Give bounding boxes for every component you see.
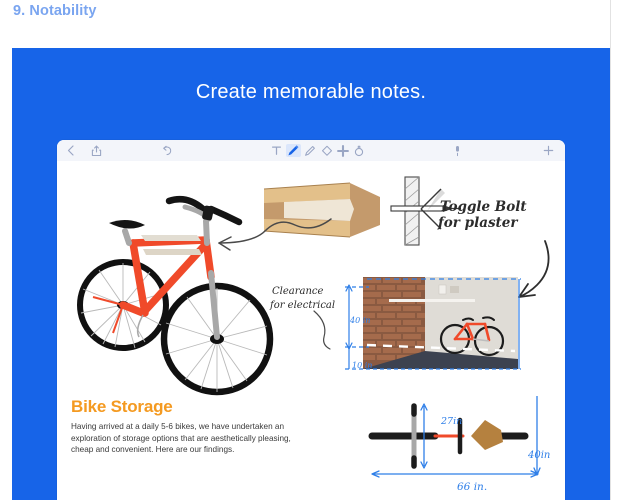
note-canvas-body[interactable]: Toggle Bolt for plaster Clearance for el…	[57, 161, 565, 500]
toolbar-left-group	[64, 144, 103, 157]
toolbar-right-group	[542, 144, 565, 157]
note-app-window: Toggle Bolt for plaster Clearance for el…	[57, 140, 565, 500]
page-divider	[610, 0, 611, 500]
bike-storage-body: Having arrived at a daily 5-6 bikes, we …	[71, 421, 299, 456]
link-icon[interactable]	[564, 144, 565, 157]
lasso-select-icon[interactable]	[336, 144, 349, 157]
dimension-bike-length: 66 in.	[457, 481, 487, 493]
app-toolbar	[57, 140, 565, 162]
annotation-clearance-line1: Clearance	[272, 286, 323, 297]
page-title: 9. Notability	[13, 3, 96, 19]
microphone-icon[interactable]	[451, 144, 464, 157]
back-chevron-icon[interactable]	[64, 144, 77, 157]
connector-squiggle-arrow	[207, 213, 337, 253]
bike-storage-title: Bike Storage	[71, 397, 311, 417]
toolbar-undo-group	[161, 144, 174, 157]
eraser-tool-icon[interactable]	[320, 144, 333, 157]
dimension-wall-offset: 10 in	[352, 361, 372, 370]
media-tool-icon[interactable]	[352, 144, 365, 157]
text-tool-icon[interactable]	[270, 144, 283, 157]
dimension-bike-height: 27in	[441, 416, 462, 427]
highlighter-tool-icon[interactable]	[304, 144, 317, 157]
page-root: 9. Notability Create memorable notes.	[0, 0, 625, 500]
hero-panel: Create memorable notes.	[12, 48, 610, 500]
photo-dimension-lines	[343, 273, 528, 375]
add-icon[interactable]	[542, 144, 555, 157]
bike-storage-text-block: Bike Storage Having arrived at a daily 5…	[71, 397, 311, 456]
toolbar-tools-group	[270, 144, 365, 157]
hero-title: Create memorable notes.	[12, 81, 610, 104]
annotation-toggle-bolt-line2: for plaster	[438, 215, 517, 231]
share-icon[interactable]	[90, 144, 103, 157]
toolbar-mic-group	[451, 144, 464, 157]
annotation-toggle-bolt-line1: Toggle Bolt	[440, 199, 527, 215]
pen-tool-icon[interactable]	[286, 144, 301, 157]
undo-icon[interactable]	[161, 144, 174, 157]
dimension-mount-height: 40in	[528, 450, 550, 461]
dimension-wall-height: 40 in	[350, 316, 370, 325]
